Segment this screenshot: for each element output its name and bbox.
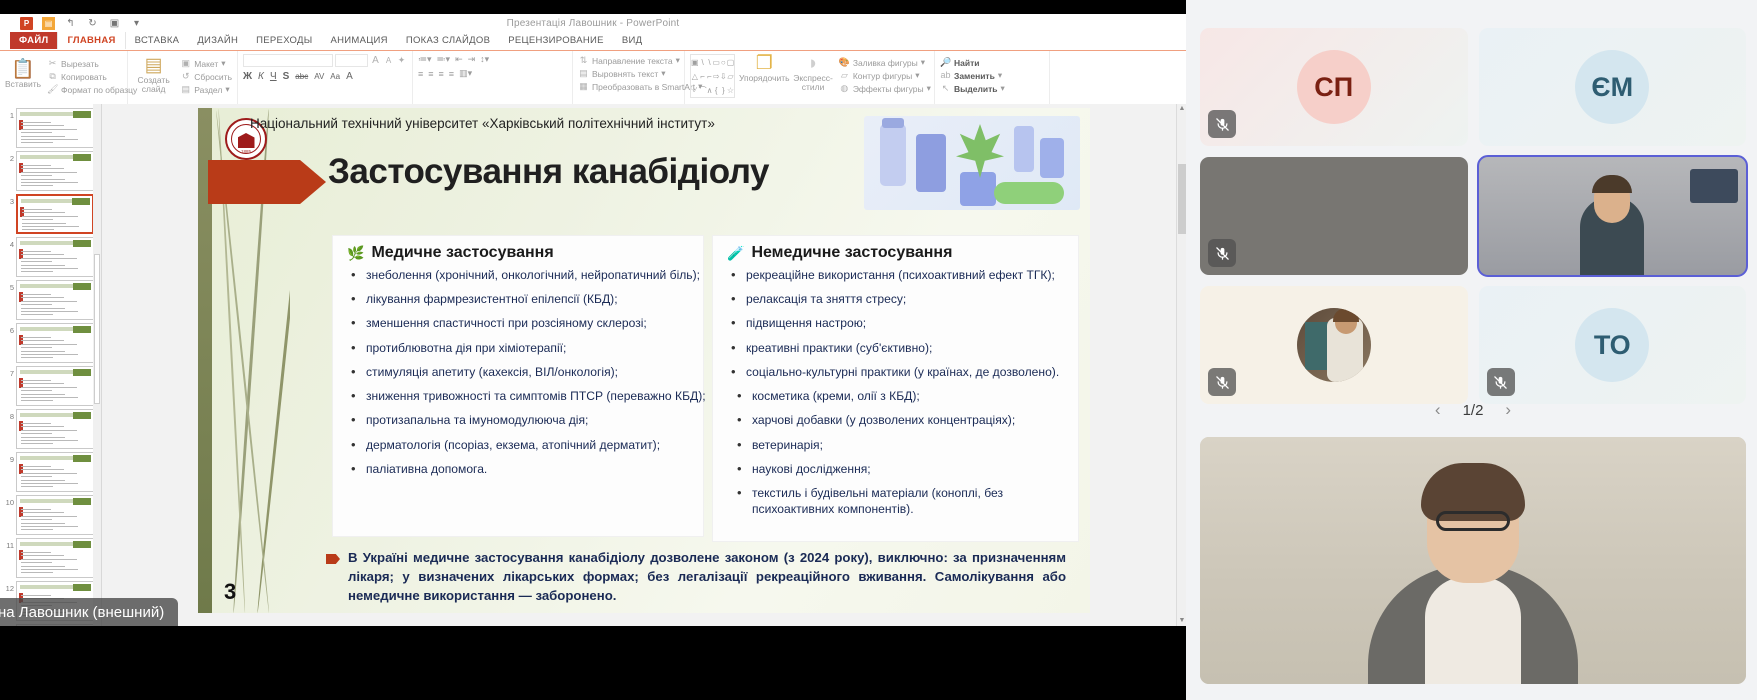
bullet-item: харчові добавки (у дозволених концентрац… (731, 413, 1070, 429)
shape-fill-button[interactable]: 🎨Заливка фигуры▾ (839, 56, 931, 69)
new-slide-label: Создать слайд (133, 76, 174, 95)
reset-icon: ↺ (180, 71, 191, 82)
mic-muted-icon[interactable] (1487, 368, 1515, 396)
shape-rect-icon[interactable]: ▭ (712, 58, 720, 67)
quick-access-toolbar[interactable]: P ▤ ↰ ↻ ▣ ▾ Презентація Лавошник - Power… (0, 14, 1186, 32)
screen-root: P ▤ ↰ ↻ ▣ ▾ Презентація Лавошник - Power… (0, 0, 1757, 700)
shape-arrow-right-icon[interactable]: ⇨ (713, 72, 720, 81)
slide-title[interactable]: Застосування канабідіолу (328, 152, 769, 192)
window-title: Презентація Лавошник - PowerPoint (0, 18, 1186, 29)
medical-use-heading-text: Медичне застосування (371, 244, 553, 262)
ribbon-group-font: A A ✦ Ж К Ч S abc AV Aa A (238, 51, 413, 108)
pagination-prev-icon[interactable]: ‹ (1435, 400, 1441, 420)
pagination-label: 1/2 (1463, 402, 1484, 419)
video-conference-panel: СП ЄМ (1186, 0, 1757, 700)
tile-photo[interactable] (1200, 286, 1468, 404)
copy-button[interactable]: ⧉Копировать (47, 70, 137, 83)
ribbon-group-paragraph-extras: ⇅Направление текста▾ ▤Выровнять текст▾ ▦… (573, 51, 685, 108)
logo-year: 1885 (232, 149, 260, 154)
bullet-item: зменшення спастичності при розсіяному ск… (351, 316, 695, 332)
slide-thumbnail-number: 2 (2, 151, 14, 163)
window-top-black-bar (0, 0, 1186, 14)
slide-thumbnail-number: 8 (2, 409, 14, 421)
shape-star-icon[interactable]: ☆ (727, 86, 734, 95)
shape-roundrect-icon[interactable]: ▢ (727, 58, 735, 67)
convert-smartart-button[interactable]: ▦Преобразовать в SmartArt▾ (578, 80, 679, 93)
slide-thumbnail[interactable]: 3 (2, 194, 99, 234)
nonmedical-use-card: 🧪 Немедичне застосування рекреаційне вик… (713, 236, 1078, 541)
participant-tile-grid: СП ЄМ (1200, 28, 1746, 404)
tile-camera-off[interactable] (1200, 157, 1468, 275)
scissors-icon: ✂ (47, 58, 58, 69)
conclusion-block: В Україні медичне застосування канабідіо… (326, 548, 1066, 605)
tab-review[interactable]: РЕЦЕНЗИРОВАНИЕ (499, 32, 613, 49)
slide-thumbnail-number: 4 (2, 237, 14, 249)
format-painter-button[interactable]: 🖌Формат по образцу (47, 83, 137, 96)
shape-arrow-down-icon[interactable]: ⇩ (720, 72, 727, 81)
bullet-item: текстиль і будівельні матеріали (коноплі… (731, 486, 1070, 517)
scrollbar-thumb[interactable] (1178, 164, 1186, 234)
slide-thumbnail-number: 12 (2, 581, 14, 593)
italic-button[interactable]: К (258, 71, 264, 82)
character-spacing-button[interactable]: AV (314, 72, 324, 81)
presenter-name-badge: на Лавошник (внешний) (0, 598, 178, 626)
cursor-select-icon: ↖ (940, 83, 951, 94)
shape-line-icon[interactable]: \ (701, 58, 703, 67)
tile-em[interactable]: ЄМ (1479, 28, 1747, 146)
scroll-up-icon[interactable]: ▲ (1177, 104, 1186, 114)
bullet-item: лікування фармрезистентної епілепсії (КБ… (351, 292, 695, 308)
shadow-button[interactable]: S (283, 71, 290, 82)
text-direction-button[interactable]: ⇅Направление текста▾ (578, 54, 679, 67)
shape-brace-left-icon[interactable]: { (715, 86, 718, 95)
university-name: Національний технічний університет «Харк… (250, 116, 715, 131)
shape-arc-icon[interactable]: ∧ (707, 86, 713, 95)
thumbnail-scrollbar[interactable] (93, 104, 101, 626)
align-text-button[interactable]: ▤Выровнять текст▾ (578, 67, 679, 80)
slide-thumbnail-preview[interactable] (16, 366, 94, 406)
medical-use-bullets: знеболення (хронічний, онкологічний, ней… (333, 268, 703, 477)
shape-l-icon[interactable]: ⌐ (707, 72, 712, 81)
slide-thumbnail-pane[interactable]: 1 2 3 4 5 6 7 8 9 (0, 104, 102, 626)
bullet-item: наукові дослідження; (731, 462, 1070, 478)
conclusion-text: В Україні медичне застосування канабідіо… (348, 548, 1066, 605)
bullet-item: протиблювотна дія при хіміотерапії; (351, 341, 695, 357)
active-speaker-video[interactable] (1200, 437, 1746, 684)
nonmedical-use-heading: 🧪 Немедичне застосування (713, 236, 1078, 264)
tab-animations[interactable]: АНИМАЦИЯ (321, 32, 396, 49)
bullet-item: протизапальна та імуномодулююча дія; (351, 413, 695, 429)
nonmedical-use-bullets: рекреаційне використання (психоактивний … (713, 268, 1078, 381)
avatar: ЄМ (1575, 50, 1649, 124)
underline-button[interactable]: Ч (270, 71, 277, 82)
shape-effects-icon: ◍ (839, 83, 850, 94)
slide-thumbnail-number: 3 (2, 194, 14, 206)
ribbon[interactable]: 📋 Вставить ✂Вырезать ⧉Копировать 🖌Формат… (0, 50, 1186, 108)
slide-thumbnail[interactable]: 11 (2, 538, 99, 578)
smartart-icon: ▦ (578, 81, 589, 92)
medical-use-heading: 🌿 Медичне застосування (333, 236, 703, 264)
slide-thumbnail-preview[interactable] (16, 151, 94, 191)
replace-icon: ab (940, 70, 951, 81)
presenter-name-text: на Лавошник (внешний) (0, 604, 164, 621)
slide-thumbnail[interactable]: 8 (2, 409, 99, 449)
shape-brace-right-icon[interactable]: } (722, 86, 725, 95)
slide-canvas[interactable]: 1885 Національний технічний університет … (198, 108, 1090, 613)
slide-thumbnail-preview[interactable] (16, 538, 94, 578)
reset-button[interactable]: ↺Сбросить (180, 70, 232, 83)
slide-edit-area[interactable]: 1885 Національний технічний університет … (102, 104, 1186, 626)
shape-triangle-icon[interactable]: △ (692, 72, 698, 81)
font-family-select[interactable] (243, 54, 333, 67)
shape-textbox-icon[interactable]: ▣ (691, 58, 699, 67)
slide-thumbnail[interactable]: 1 (2, 108, 99, 148)
slide-thumbnail-number: 11 (2, 538, 14, 550)
slide-thumbnail-number: 5 (2, 280, 14, 292)
paste-label: Вставить (5, 80, 41, 89)
shape-arrow-icon[interactable]: \ (708, 58, 710, 67)
line-spacing-icon[interactable]: ↕▾ (480, 54, 489, 65)
avatar: СП (1297, 50, 1371, 124)
bullet-item: паліативна допомога. (351, 462, 695, 478)
tab-slideshow[interactable]: ПОКАЗ СЛАЙДОВ (397, 32, 499, 49)
slide-thumbnail-number: 7 (2, 366, 14, 378)
select-button[interactable]: ↖Выделить▾ (940, 82, 1044, 95)
mic-muted-icon[interactable] (1208, 239, 1236, 267)
ribbon-group-slides: ▤ Создать слайд ▣Макет▾ ↺Сбросить ▤Разде… (128, 51, 238, 108)
tab-insert[interactable]: ВСТАВКА (126, 32, 189, 49)
background-monitor (1690, 169, 1738, 203)
slide-thumbnail-number: 9 (2, 452, 14, 464)
replace-button[interactable]: abЗаменить▾ (940, 69, 1044, 82)
bullets-icon[interactable]: ≔▾ (418, 54, 432, 65)
scroll-down-icon[interactable]: ▼ (1177, 616, 1186, 626)
mic-muted-icon[interactable] (1208, 368, 1236, 396)
shape-outline-button[interactable]: ▱Контур фигуры▾ (839, 69, 931, 82)
bullet-item: підвищення настрою; (731, 316, 1070, 332)
ribbon-group-drawing: ▣\\▭○▢ △⌐⌐⇨⇩▱ ୰⌒∧{}☆ ❐ Упорядочить ◗ Экс… (685, 51, 935, 108)
align-left-icon[interactable]: ≡ (418, 69, 423, 79)
test-tube-icon: 🧪 (727, 245, 744, 262)
clipboard-icon: 📋 (11, 60, 35, 80)
tab-home[interactable]: ГЛАВНАЯ (57, 31, 125, 49)
section-icon: ▤ (180, 84, 191, 95)
nonmedical-use-heading-text: Немедичне застосування (751, 244, 952, 262)
strikethrough-button[interactable]: abc (295, 72, 308, 81)
slide-thumbnail[interactable]: 5 (2, 280, 99, 320)
bold-button[interactable]: Ж (243, 71, 252, 82)
columns-icon[interactable]: ▥▾ (459, 68, 472, 79)
shape-outline-icon: ▱ (839, 70, 850, 81)
change-case-button[interactable]: Aa (330, 72, 340, 81)
bullet-item: дерматологія (псоріаз, екзема, атопічний… (351, 438, 695, 454)
increase-indent-icon[interactable]: ⇥ (468, 54, 476, 65)
bullet-item: соціально-культурні практики (у країнах,… (731, 365, 1070, 381)
ribbon-group-clipboard: 📋 Вставить ✂Вырезать ⧉Копировать 🖌Формат… (0, 51, 128, 108)
red-arrow-decoration (208, 160, 326, 204)
tile-sp[interactable]: СП (1200, 28, 1468, 146)
bullet-item: зниження тривожності та симптомів ПТСР (… (351, 389, 695, 405)
slide-thumbnail[interactable]: 6 (2, 323, 99, 363)
arrange-button[interactable]: ❐ Упорядочить (741, 54, 787, 83)
bullet-item: стимуляція апетиту (кахексія, ВІЛ/онколо… (351, 365, 695, 381)
bullet-item: рекреаційне використання (психоактивний … (731, 268, 1070, 284)
slide-thumbnail-number: 6 (2, 323, 14, 335)
decrease-font-icon[interactable]: A (383, 55, 394, 66)
slide-thumbnail-preview[interactable] (16, 409, 94, 449)
tile-to[interactable]: ТО (1479, 286, 1747, 404)
quick-styles-button[interactable]: ◗ Экспресс-стили (793, 54, 833, 93)
tab-view[interactable]: ВИД (613, 32, 652, 49)
paste-button[interactable]: 📋 Вставить (5, 54, 41, 96)
slide-thumbnail[interactable]: 10 (2, 495, 99, 535)
conclusion-marker-icon (326, 554, 340, 564)
slide-thumbnail-number: 10 (2, 495, 14, 507)
bullet-item: косметика (креми, олії з КБД); (731, 389, 1070, 405)
avatar: ТО (1575, 308, 1649, 382)
slide-thumbnail-preview[interactable] (16, 237, 94, 277)
slide-thumbnail[interactable]: 7 (2, 366, 99, 406)
font-size-select[interactable] (335, 54, 368, 67)
new-slide-icon: ▤ (145, 56, 163, 76)
tile-pagination[interactable]: ‹ 1/2 › (1200, 400, 1746, 420)
powerpoint-body: 1 2 3 4 5 6 7 8 9 (0, 104, 1186, 626)
font-color-button[interactable]: A (346, 71, 353, 82)
find-button[interactable]: 🔎Найти (940, 56, 1044, 69)
hero-image (864, 116, 1080, 210)
shape-fill-icon: 🎨 (839, 57, 850, 68)
clear-formatting-icon[interactable]: ✦ (396, 55, 407, 66)
section-button[interactable]: ▤Раздел▾ (180, 83, 232, 96)
shapes-gallery[interactable]: ▣\\▭○▢ △⌐⌐⇨⇩▱ ୰⌒∧{}☆ (690, 54, 735, 98)
slide-thumbnail[interactable]: 9 (2, 452, 99, 492)
powerpoint-window: P ▤ ↰ ↻ ▣ ▾ Презентація Лавошник - Power… (0, 0, 1186, 626)
mic-muted-icon[interactable] (1208, 110, 1236, 138)
tile-speaker[interactable] (1479, 157, 1747, 275)
slide-thumbnail[interactable]: 4 (2, 237, 99, 277)
numbering-icon[interactable]: ≕▾ (437, 54, 451, 65)
slide-thumbnail-preview[interactable] (16, 452, 94, 492)
copy-icon: ⧉ (47, 71, 58, 82)
bullet-item: знеболення (хронічний, онкологічний, ней… (351, 268, 695, 284)
slide-thumbnail[interactable]: 2 (2, 151, 99, 191)
increase-font-icon[interactable]: A (370, 55, 381, 66)
slide-thumbnail-number: 1 (2, 108, 14, 120)
shape-corner-icon[interactable]: ⌐ (700, 72, 705, 81)
herb-icon: 🌿 (347, 245, 364, 262)
shape-oval-icon[interactable]: ○ (721, 58, 726, 67)
shape-effects-button[interactable]: ◍Эффекты фигуры▾ (839, 82, 931, 95)
new-slide-button[interactable]: ▤ Создать слайд (133, 54, 174, 96)
binoculars-icon: 🔎 (940, 57, 951, 68)
ribbon-group-editing: 🔎Найти abЗаменить▾ ↖Выделить▾ (935, 51, 1050, 108)
tab-transitions[interactable]: ПЕРЕХОДЫ (247, 32, 321, 49)
arrange-icon: ❐ (756, 54, 773, 74)
layout-button[interactable]: ▣Макет▾ (180, 57, 232, 70)
shape-flow-icon[interactable]: ▱ (727, 72, 733, 81)
slide-number: 3 (224, 579, 236, 605)
justify-icon[interactable]: ≡ (449, 69, 454, 79)
nonmedical-use-bullets-indented: косметика (креми, олії з КБД);харчові до… (713, 389, 1078, 517)
decrease-indent-icon[interactable]: ⇤ (455, 54, 463, 65)
align-right-icon[interactable]: ≡ (439, 69, 444, 79)
pagination-next-icon[interactable]: › (1505, 400, 1511, 420)
align-center-icon[interactable]: ≡ (428, 69, 433, 79)
thumbnail-scrollbar-thumb[interactable] (94, 254, 100, 404)
bullet-item: креативні практики (суб'єктивно); (731, 341, 1070, 357)
cut-button[interactable]: ✂Вырезать (47, 57, 137, 70)
slide-thumbnail-preview[interactable] (16, 323, 94, 363)
bullet-item: релаксація та зняття стресу; (731, 292, 1070, 308)
brush-icon: 🖌 (47, 84, 58, 95)
layout-icon: ▣ (180, 58, 191, 69)
slide-title-text: Застосування канабідіолу (328, 152, 769, 191)
medical-use-card: 🌿 Медичне застосування знеболення (хроні… (333, 236, 703, 536)
align-text-icon: ▤ (578, 68, 589, 79)
tab-design[interactable]: ДИЗАЙН (188, 32, 247, 49)
tab-file[interactable]: ФАЙЛ (10, 32, 57, 49)
slide-thumbnail-preview[interactable] (16, 280, 94, 320)
ribbon-tabs[interactable]: ФАЙЛ ГЛАВНАЯ ВСТАВКА ДИЗАЙН ПЕРЕХОДЫ АНИ… (0, 32, 1186, 50)
slide-thumbnail-preview[interactable] (16, 194, 94, 234)
shape-scribble-icon[interactable]: ୰ (692, 85, 697, 95)
slide-scrollbar[interactable]: ▲ ▼ (1176, 104, 1186, 626)
bullet-item: ветеринарія; (731, 438, 1070, 454)
text-direction-icon: ⇅ (578, 55, 589, 66)
shape-curve-icon[interactable]: ⌒ (699, 85, 707, 96)
slide-thumbnail-preview[interactable] (16, 108, 94, 148)
ribbon-group-paragraph: ≔▾ ≕▾ ⇤ ⇥ ↕▾ ≡ ≡ ≡ ≡ ▥▾ (413, 51, 573, 108)
quick-styles-icon: ◗ (807, 54, 818, 74)
avatar (1297, 308, 1371, 382)
slide-thumbnail-preview[interactable] (16, 495, 94, 535)
